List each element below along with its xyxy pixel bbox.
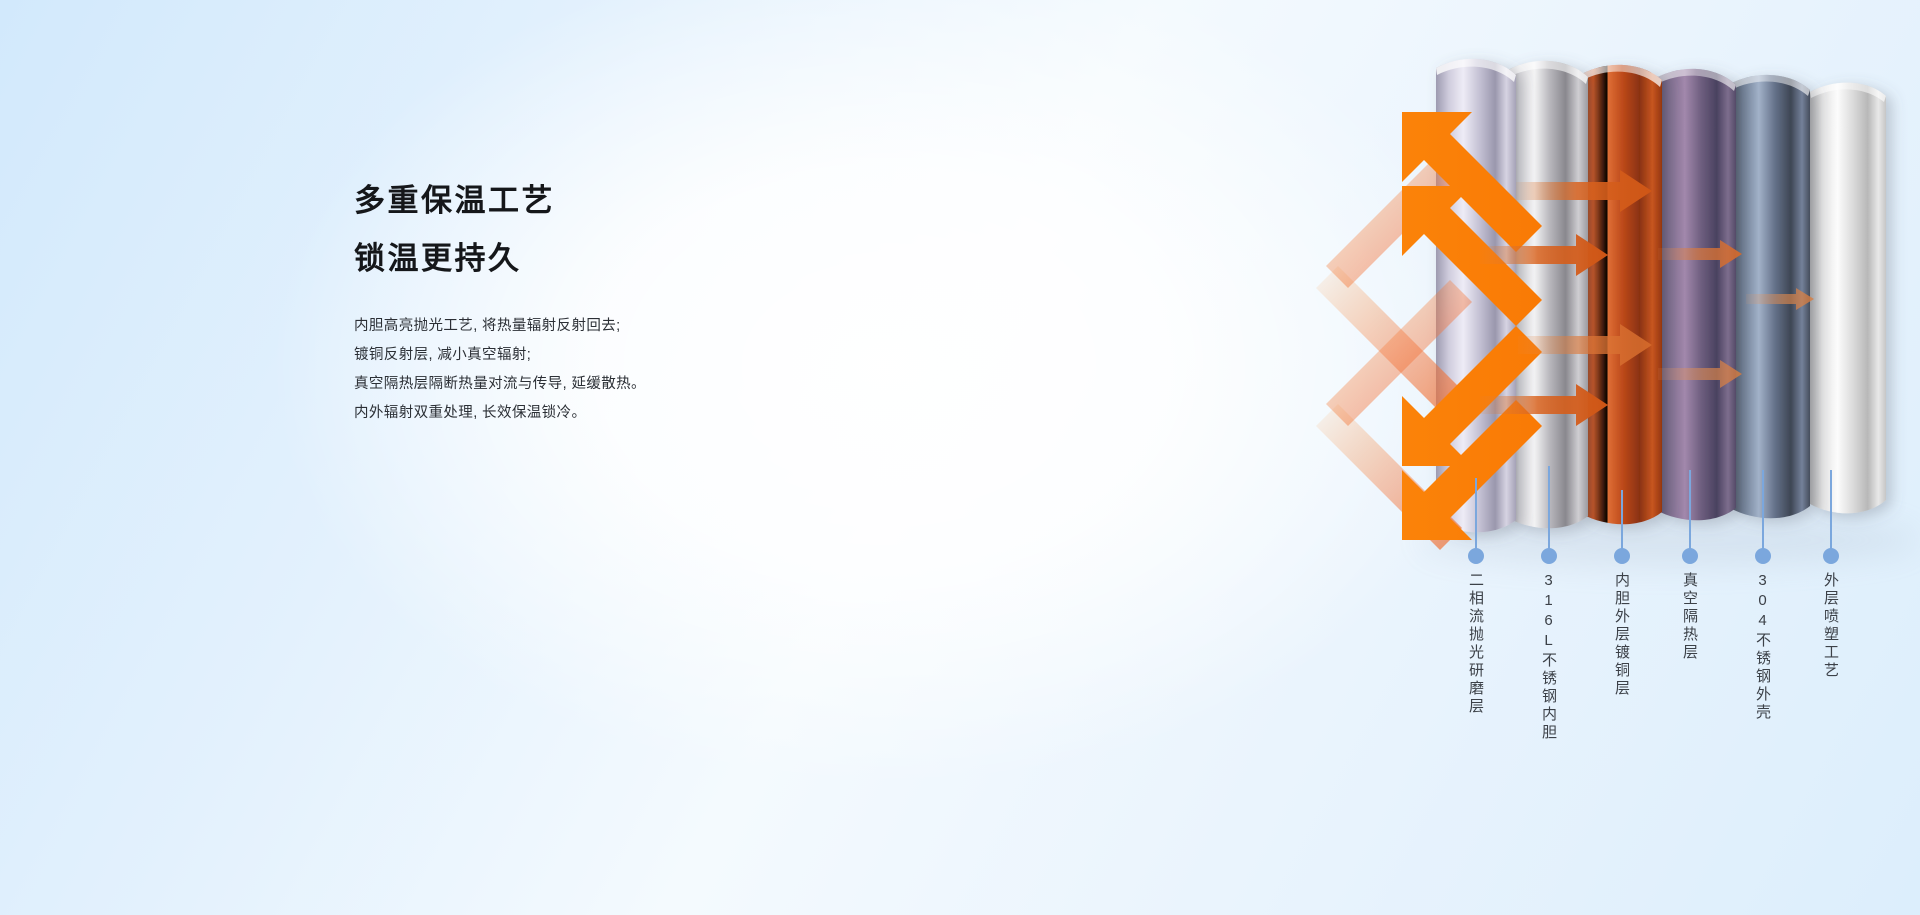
layer-illustration [690, 0, 1250, 915]
callout-label-copper-plating: 内胆外层镀铜层 [1614, 572, 1629, 698]
callout-dot [1468, 548, 1484, 564]
leader-dot-group [1468, 548, 1839, 564]
infographic-canvas: 多重保温工艺 锁温更持久 内胆高亮抛光工艺, 将热量辐射反射回去; 镀铜反射层,… [0, 0, 1920, 915]
callout-label-vacuum-layer: 真空隔热层 [1682, 572, 1697, 662]
callout-dot [1541, 548, 1557, 564]
leader-line-group [1476, 466, 1831, 552]
callout-dot [1755, 548, 1771, 564]
callout-label-polished-layer: 二相流抛光研磨层 [1468, 572, 1483, 716]
callout-dot [1823, 548, 1839, 564]
callout-label-stainless-shell: 304不锈钢外壳 [1755, 572, 1770, 722]
callout-label-outer-coating: 外层喷塑工艺 [1823, 572, 1838, 680]
callout-leaders [690, 0, 1920, 915]
callout-label-316l-liner: 316L不锈钢内胆 [1541, 572, 1556, 742]
callout-dot [1682, 548, 1698, 564]
callout-dot [1614, 548, 1630, 564]
